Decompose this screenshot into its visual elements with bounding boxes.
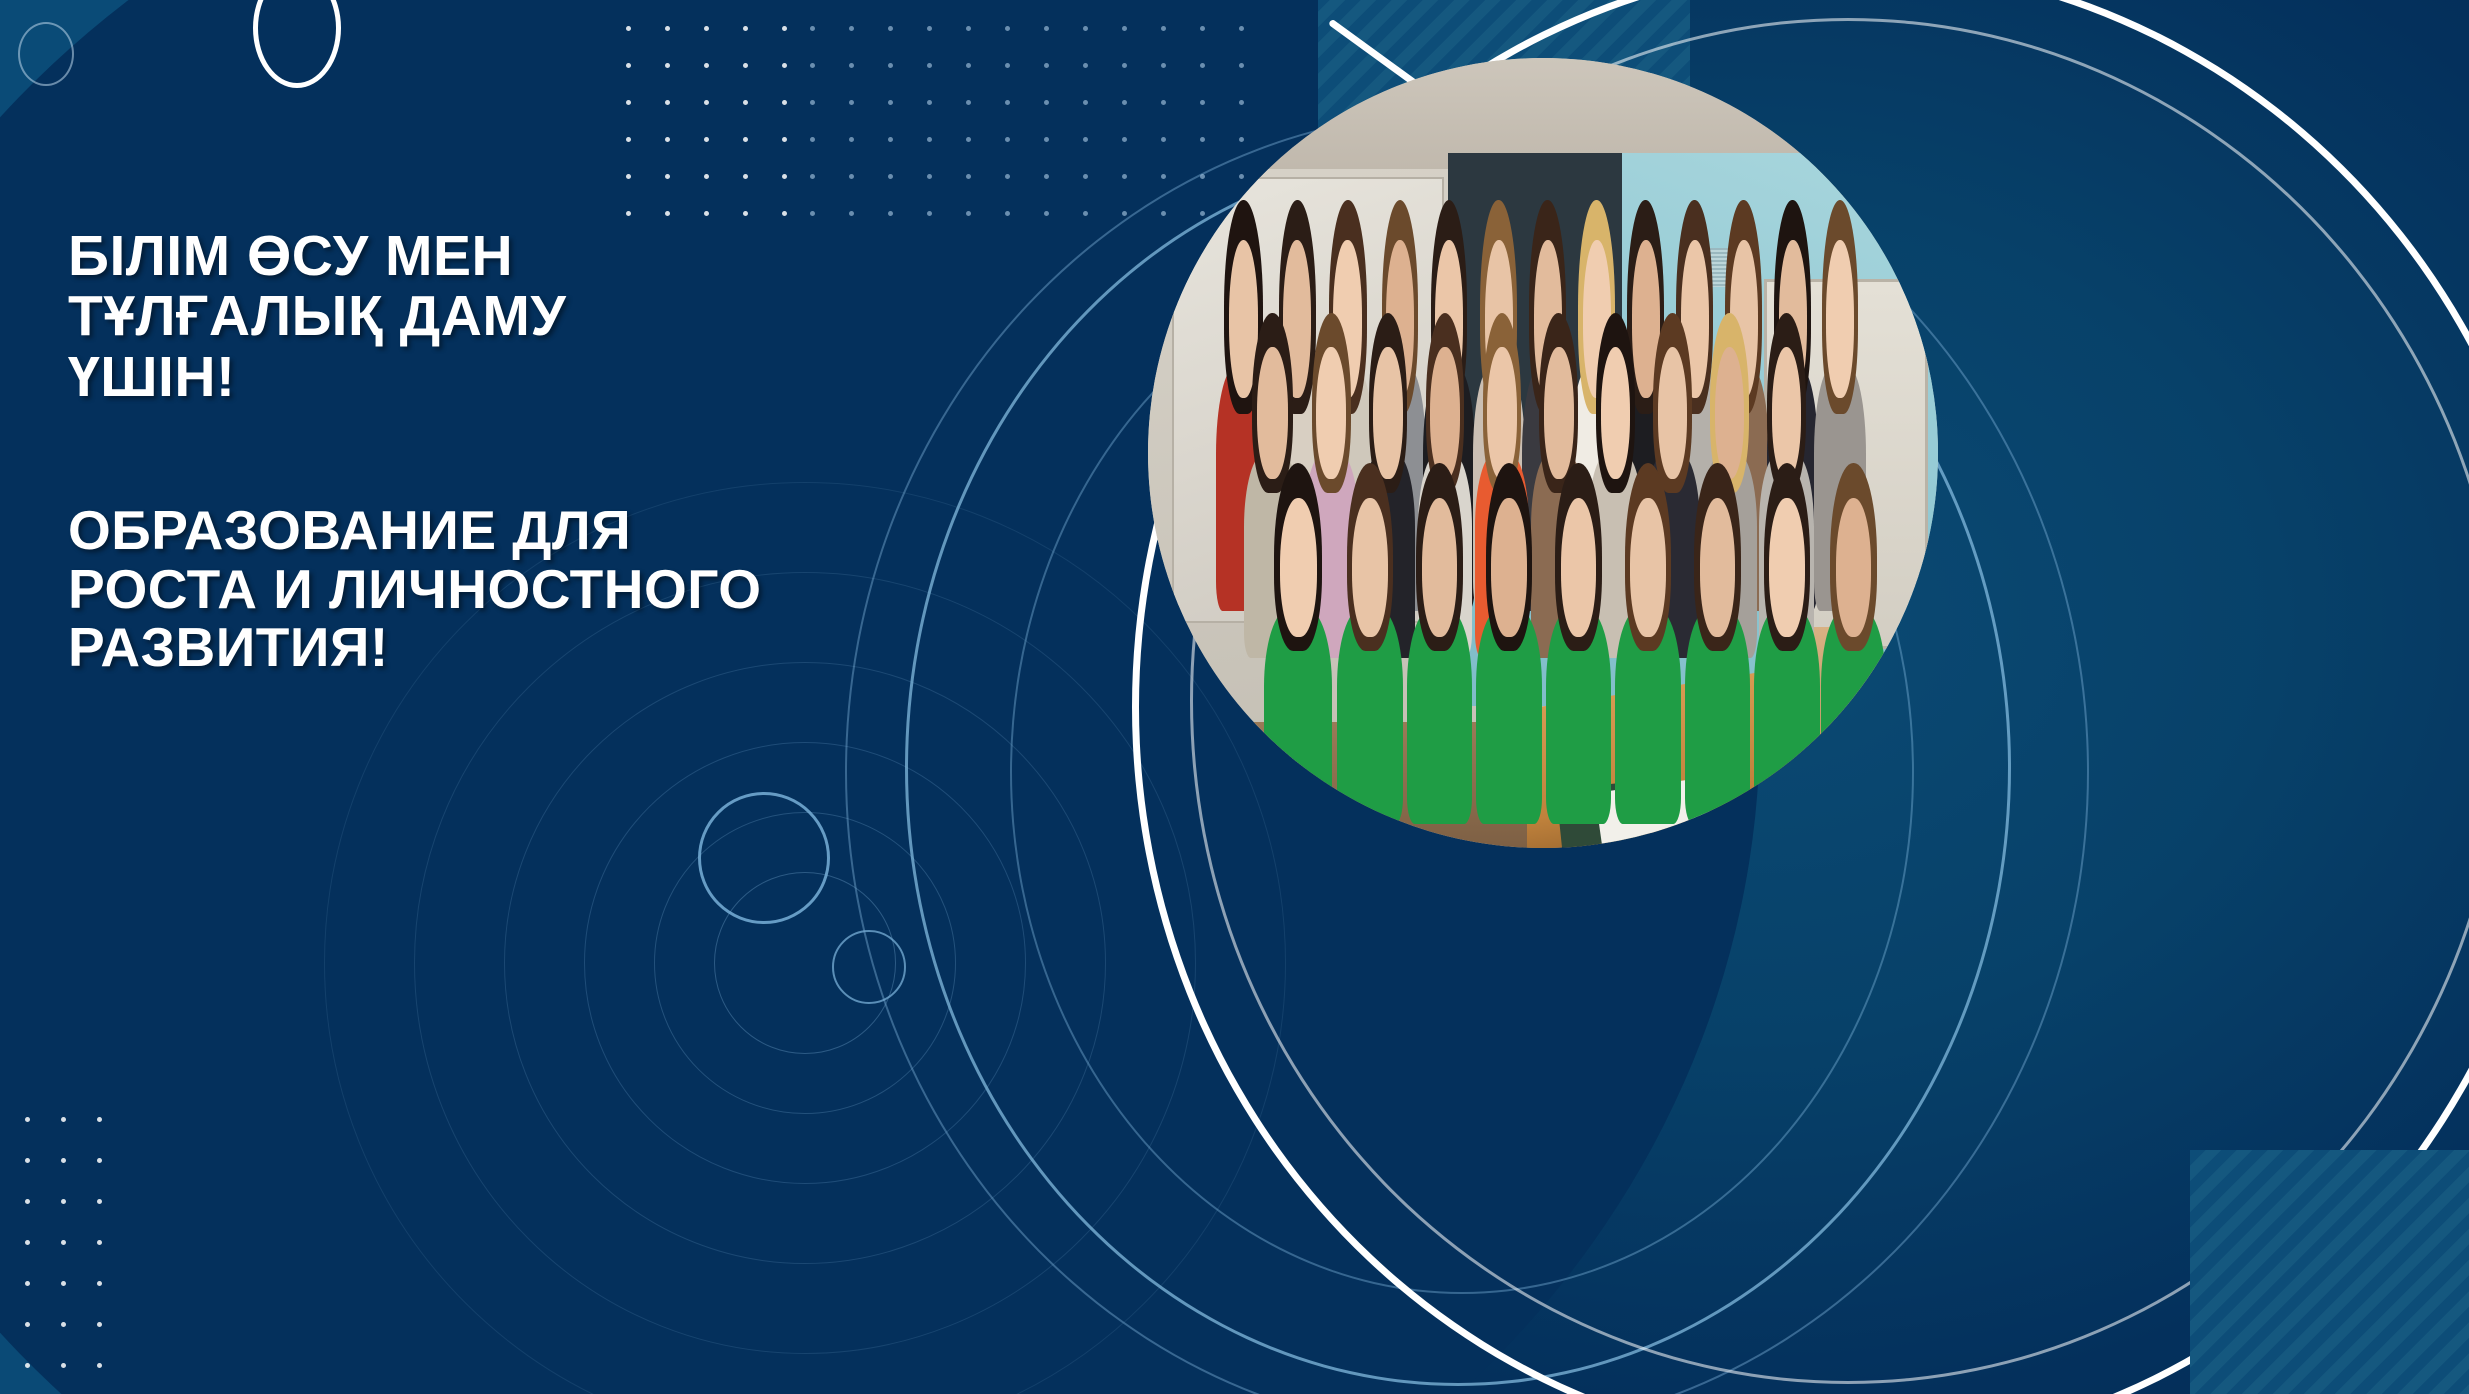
grid-dot <box>61 1322 66 1327</box>
grid-dot <box>61 1281 66 1286</box>
headline-ru-line-3: РАЗВИТИЯ! <box>68 618 888 676</box>
grid-dot <box>97 1158 102 1163</box>
grid-dot <box>25 1363 30 1368</box>
photo-person-face <box>1715 347 1745 480</box>
photo-person-face <box>1630 498 1665 637</box>
headline-block: БІЛІМ ӨСУ МЕН ТҰЛҒАЛЫҚ ДАМУ ҮШІН! ОБРАЗО… <box>68 226 888 676</box>
photo-person <box>1406 477 1474 825</box>
grid-dot <box>97 1199 102 1204</box>
photo-person-face <box>1491 498 1526 637</box>
grid-dot <box>61 1363 66 1368</box>
grid-dot <box>25 1240 30 1245</box>
photo-person-face <box>1700 498 1735 637</box>
photo-person <box>1684 477 1752 825</box>
headline-kk-line-1: БІЛІМ ӨСУ МЕН <box>68 226 888 286</box>
headline-kk-line-2: ТҰЛҒАЛЫҚ ДАМУ <box>68 286 888 346</box>
photo-person-face <box>1826 240 1854 398</box>
photo-person-face <box>1373 347 1403 480</box>
photo-person-face <box>1487 347 1517 480</box>
photo-person-face <box>1544 347 1574 480</box>
photo-person-face <box>1658 347 1688 480</box>
grid-dot <box>97 1322 102 1327</box>
photo-person-face <box>1422 498 1457 637</box>
grid-dot <box>61 1199 66 1204</box>
headline-ru-line-1: ОБРАЗОВАНИЕ ДЛЯ <box>68 501 888 559</box>
grid-dot <box>25 1117 30 1122</box>
photo-person <box>1545 477 1613 825</box>
headline-kk-line-3: ҮШІН! <box>68 347 888 407</box>
grid-dot <box>25 1199 30 1204</box>
photo-person <box>1614 477 1682 825</box>
grid-dot <box>61 1117 66 1122</box>
grid-dot <box>97 1117 102 1122</box>
grid-dot <box>61 1240 66 1245</box>
photo-person-face <box>1769 498 1804 637</box>
photo-person <box>1753 477 1821 825</box>
photo-person-face <box>1561 498 1596 637</box>
grid-dot <box>97 1363 102 1368</box>
photo-person-face <box>1316 347 1346 480</box>
photo-person-face <box>1257 347 1288 480</box>
banner-canvas: БІЛІМ ӨСУ МЕН ТҰЛҒАЛЫҚ ДАМУ ҮШІН! ОБРАЗО… <box>0 0 2469 1394</box>
grid-dot <box>97 1240 102 1245</box>
photo-person-face <box>1352 498 1387 637</box>
photo-person-face <box>1430 347 1460 480</box>
photo-person-face <box>1601 347 1631 480</box>
photo-person <box>1820 477 1888 825</box>
grid-dot <box>61 1158 66 1163</box>
grid-dot <box>25 1158 30 1163</box>
grid-dot <box>97 1281 102 1286</box>
photo-person-face <box>1280 498 1317 637</box>
group-photo-scene <box>1148 58 1938 848</box>
headline-ru-line-2: РОСТА И ЛИЧНОСТНОГО <box>68 560 888 618</box>
grid-dot <box>25 1281 30 1286</box>
grid-dot <box>25 1322 30 1327</box>
group-photo <box>1148 58 1938 848</box>
photo-person-face <box>1772 347 1802 480</box>
photo-person <box>1475 477 1543 825</box>
photo-person <box>1336 477 1404 825</box>
photo-person-face <box>1836 498 1871 637</box>
photo-person <box>1263 477 1334 825</box>
headline-spacer <box>68 407 888 501</box>
